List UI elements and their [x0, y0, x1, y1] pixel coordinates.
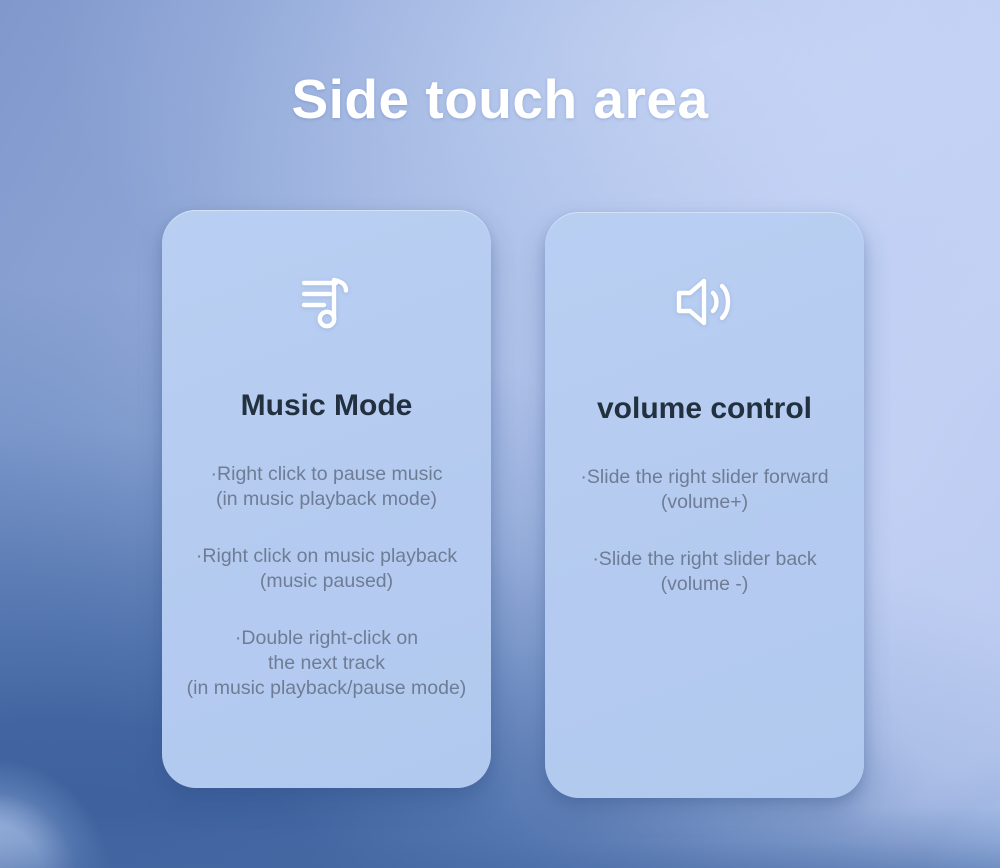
card-paragraph: ·Right click on music playback (music pa…	[162, 544, 491, 594]
side-touch-area-panel: Side touch area Music Mode ·Right	[0, 0, 1000, 868]
text-line: (music paused)	[164, 569, 489, 594]
card-paragraph: ·Double right-click on the next track (i…	[162, 626, 491, 701]
card-paragraph: ·Slide the right slider forward (volume+…	[545, 465, 864, 515]
text-line: the next track	[164, 651, 489, 676]
text-line: ·Right click on music playback	[164, 544, 489, 569]
text-line: (volume -)	[547, 572, 862, 597]
card-heading: volume control	[597, 391, 812, 427]
music-note-list-icon	[296, 264, 358, 336]
speaker-volume-icon	[673, 266, 737, 338]
text-line: (volume+)	[547, 490, 862, 515]
card-body-text: ·Slide the right slider forward (volume+…	[545, 465, 864, 597]
card-volume-control[interactable]: volume control ·Slide the right slider f…	[545, 212, 864, 798]
card-paragraph: ·Right click to pause music (in music pl…	[162, 462, 491, 512]
text-line: ·Slide the right slider back	[547, 547, 862, 572]
text-line: ·Right click to pause music	[164, 462, 489, 487]
text-line: ·Slide the right slider forward	[547, 465, 862, 490]
card-paragraph: ·Slide the right slider back (volume -)	[545, 547, 864, 597]
feature-card-list: Music Mode ·Right click to pause music (…	[0, 0, 1000, 868]
card-body-text: ·Right click to pause music (in music pl…	[162, 462, 491, 701]
text-line: (in music playback mode)	[164, 487, 489, 512]
card-heading: Music Mode	[241, 388, 413, 424]
text-line: ·Double right-click on	[164, 626, 489, 651]
text-line: (in music playback/pause mode)	[164, 676, 489, 701]
card-music-mode[interactable]: Music Mode ·Right click to pause music (…	[162, 210, 491, 788]
